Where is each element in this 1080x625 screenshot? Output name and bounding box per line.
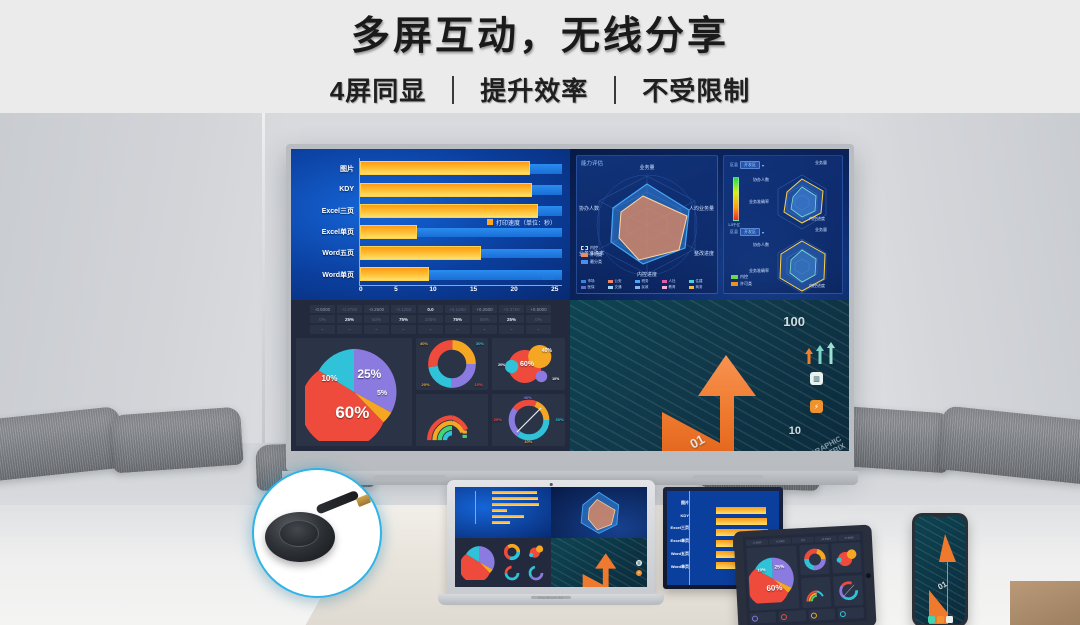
topbar-cell: 50% [364, 315, 389, 323]
mini-radar-axis-label: 协办人数 [753, 242, 769, 248]
gauge-label: 30% [556, 417, 564, 422]
legend-item: 交通 [608, 285, 632, 290]
topbar-cell: 0.0 [418, 305, 443, 313]
laptop-screen: ▥ ⚡ [455, 487, 647, 587]
laptop-arrow-svg [551, 538, 647, 588]
topbar-cell: +0.3750 [499, 305, 524, 313]
radar-legend-grid: 市场 公安 税务 人社 住建 医保 交通 民政 教育 商务 [581, 279, 713, 290]
tablet-screen: -0.5000 -0.2500 0.0 +0.2500 +0.5000 [743, 531, 868, 625]
donut-callout-label: 40% [420, 341, 428, 346]
mini-bubble-chart: 40% 60% 20% 10% [492, 338, 565, 390]
legend-item: 教育 [662, 285, 686, 290]
radar-axis-label: 协办人数 [579, 205, 599, 212]
page-title: 多屏互动，无线分享 [351, 5, 729, 61]
gauge-label: 10% [524, 439, 532, 444]
radar-key-label: 最分类 [590, 259, 602, 265]
wall-left [0, 113, 300, 443]
laptop-bar [492, 521, 510, 524]
laptop-lid: ▥ ⚡ [447, 480, 655, 596]
bar-chart-legend: 打印速度（单位：秒） [487, 218, 556, 227]
chair-right-2 [937, 405, 1080, 484]
topbar-cell: 100% [418, 315, 443, 323]
legend-swatch-icon [608, 286, 613, 289]
sparkline-icon: ⌁ [472, 325, 497, 334]
laptop-mini-charts [503, 543, 521, 582]
filter-value[interactable]: 开发区 [740, 228, 760, 236]
ring-icon [810, 612, 816, 618]
wall-seam [262, 113, 265, 443]
bar-chart-plot: 图片 KDY [299, 158, 562, 294]
mini-charts-grid: 40% 30% 20% 10% [416, 338, 565, 446]
laptop-gauge-svg [527, 564, 545, 582]
bar-value [360, 183, 532, 197]
filter-label: 区县 [730, 229, 738, 235]
legend-item: 医保 [581, 285, 605, 290]
pie-slice-label: 5% [377, 390, 387, 397]
main-pie-chart: 10% 25% 5% 60% [296, 338, 412, 446]
bubble-label: 40% [542, 348, 552, 354]
quadrant-bar-chart: 图片 KDY [291, 149, 570, 300]
radar-key-label: 内控 [590, 245, 598, 251]
tablet-pie-label: 25% [774, 564, 784, 571]
pie-chart-svg [305, 343, 403, 441]
pie-topbar: -0.5000 -0.3750 -0.2500 -0.1250 0.0 +0.1… [296, 305, 565, 334]
legend-swatch-icon [731, 275, 738, 279]
mini-radar-axis-label: 业务量 [815, 227, 827, 233]
phone-arrow-svg [915, 516, 965, 624]
donut-callout-label: 10% [475, 382, 483, 387]
legend-swatch-icon [635, 280, 640, 283]
topbar-percents-row: 0% 25% 50% 75% 100% 75% 50% 25% 0% [310, 315, 551, 323]
bar-track [359, 158, 562, 179]
legend-label: 打印速度（单位：秒） [496, 218, 556, 227]
bar-label: KDY [299, 186, 359, 193]
legend-swatch-icon [608, 280, 613, 283]
radar-chart-svg [581, 166, 713, 284]
legend-swatch-icon [689, 280, 694, 283]
mini-radar-axis-label: 业务准确率 [749, 268, 769, 274]
bar-label: Excel单页 [299, 227, 359, 237]
x-tick: 20 [511, 286, 518, 297]
feature-item-1: 4屏同显 [330, 71, 426, 108]
feature-divider-2 [614, 76, 616, 104]
legend-swatch-icon [689, 286, 694, 289]
chair-left-1 [0, 406, 125, 482]
bubble-label: 60% [520, 361, 534, 368]
topbar-cell: 0% [310, 315, 335, 323]
topbar-cell: +0.5000 [526, 305, 551, 313]
radar-key-item: 内控 [581, 245, 602, 251]
mini-radar-axis-label: 业务准确率 [749, 199, 769, 205]
sparkline-icon: ⌁ [364, 325, 389, 334]
legend-item: 税务 [635, 279, 659, 284]
pie-slice-label: 25% [357, 367, 381, 381]
legend-swatch-icon [635, 286, 640, 289]
legend-item: 公安 [608, 279, 632, 284]
donut-chart-svg [426, 338, 478, 390]
bubble-label: 10% [552, 377, 559, 381]
pie-slice-label: 60% [335, 403, 369, 423]
laptop-q3-pies [455, 538, 551, 588]
laptop-bar-list [475, 491, 547, 524]
up-arrow-icon [816, 345, 824, 364]
webcam-icon [550, 483, 553, 486]
laptop-donut-svg [503, 543, 521, 561]
chevron-down-icon: ▾ [762, 163, 764, 168]
bar-track [359, 179, 562, 200]
phone-notch [930, 513, 950, 517]
laptop-radar-svg [572, 487, 626, 537]
sparkline-icon: ⌁ [310, 325, 335, 334]
sparkline-icon: ⌁ [499, 325, 524, 334]
legend-item: 住建 [689, 279, 713, 284]
radar-axis-label: 业务量 [639, 164, 654, 171]
radar-key-swatch [581, 253, 588, 257]
tablet-card [837, 607, 864, 619]
topbar-cell: 50% [472, 315, 497, 323]
legend-swatch-icon [487, 219, 493, 225]
chevron-down-icon: ▾ [762, 230, 764, 235]
radar-axis-label: 内控进度 [637, 271, 657, 278]
side-legend-item: 许可类 [731, 281, 752, 287]
radar-key-swatch [581, 246, 588, 250]
laptop-pie-svg [461, 544, 497, 580]
mini-radar-axis-label: 内控进度 [809, 283, 825, 289]
app-icon-2[interactable] [937, 616, 944, 623]
tablet-donut-svg [802, 547, 827, 572]
bar-track [359, 264, 562, 285]
bar-label: Word单页 [299, 270, 359, 280]
laptop-brand-label: MacBook Air [538, 595, 564, 600]
product-promo-page: 多屏互动，无线分享 4屏同显 提升效率 不受限制 [0, 0, 1080, 625]
tablet-arc [801, 577, 831, 608]
radar-key: 内控 许可类 最分类 [581, 245, 602, 265]
dongle-cable [315, 490, 359, 515]
topbar-cell: -0.1250 [391, 305, 416, 313]
tablet-arc-svg [804, 581, 829, 604]
laptop-base: MacBook Air [438, 594, 664, 605]
laptop-q2-radar [551, 487, 647, 538]
topbar-icons-row: ⌁ ⌁ ⌁ ⌁ ⌁ ⌁ ⌁ ⌁ ⌁ [310, 325, 551, 334]
x-tick: 15 [470, 286, 477, 297]
tablet-topbar-cell: +0.2500 [815, 535, 837, 542]
speaker-grille-left [374, 475, 446, 481]
ring-icon [781, 613, 787, 619]
feature-item-3: 不受限制 [642, 71, 750, 108]
tablet-donut [799, 544, 829, 575]
topbar-cell: 75% [391, 315, 416, 323]
side-legend: 内控 许可类 [731, 274, 752, 287]
chart-icon: ▥ [810, 372, 823, 385]
bar-row: KDY [299, 179, 562, 200]
topbar-cell: -0.5000 [310, 305, 335, 313]
monitor2-bar-label: Excel单页 [669, 538, 689, 544]
wall-right [840, 113, 1080, 443]
radar-key-label: 许可类 [590, 252, 602, 258]
legend-item: 人社 [662, 279, 686, 284]
tablet-topbar-cell: +0.5000 [838, 534, 860, 541]
tablet-pie-label: 10% [757, 567, 765, 572]
pie-slice-label: 10% [321, 374, 337, 383]
monitor2-labels: 图片 KDY Excel三页 Excel单页 Word五页 Word单页 [669, 500, 689, 570]
monitor2-bar-label: Word单页 [669, 564, 689, 570]
side-legend-item: 内控 [731, 274, 752, 280]
tablet-pie-label: 60% [766, 583, 782, 593]
mini-radar-top [771, 171, 833, 231]
monitor2-bar [716, 507, 766, 514]
feature-divider-1 [452, 76, 454, 104]
radar-key-item: 最分类 [581, 259, 602, 265]
bar-track [359, 243, 562, 264]
tablet-card [808, 609, 835, 621]
floor-wood-strip [1010, 581, 1080, 625]
radar-key-swatch [581, 260, 588, 264]
interactive-flat-panel[interactable]: 图片 KDY [286, 144, 854, 471]
tablet-card [750, 612, 777, 624]
up-arrow-icon [805, 348, 813, 364]
sparkline-icon: ⌁ [337, 325, 362, 334]
x-tick: 5 [394, 286, 398, 297]
laptop-bar [492, 503, 539, 506]
radar-axis-label: 人均业务量 [689, 205, 714, 212]
side-filter-bottom[interactable]: 区县 开发区 ▾ [730, 228, 764, 236]
topbar-cell: 0% [526, 315, 551, 323]
filter-label: 区县 [730, 162, 738, 168]
mini-radar-axis-label: 业务量 [815, 160, 827, 166]
laptop-bar [492, 497, 538, 500]
laptop-q1-bars [455, 487, 551, 538]
legend-item: 商务 [689, 285, 713, 290]
topbar-cell: 75% [445, 315, 470, 323]
legend-swatch-icon [581, 280, 586, 283]
bar-row: Word单页 [299, 264, 562, 285]
tablet-body: 10% 25% 60% [746, 542, 863, 611]
bar-chart-x-axis: 0 5 10 15 20 25 [359, 285, 562, 297]
bar-value [360, 225, 417, 239]
dongle-touch-surface[interactable] [279, 520, 319, 547]
smartphone-device[interactable]: 01 [912, 513, 968, 625]
monitor2-bar [716, 518, 767, 525]
gauge-label: 20% [494, 417, 502, 422]
mini-radar-axis-label: 内控进度 [809, 216, 825, 222]
arc-chart-svg [424, 396, 480, 444]
filter-value[interactable]: 开发区 [740, 161, 760, 169]
laptop-bar [492, 491, 537, 494]
side-cell-bottom: 区县 开发区 ▾ [727, 226, 839, 290]
speaker-grille-right [692, 475, 764, 481]
colorbar-legend [733, 177, 739, 221]
bar-row: 图片 [299, 158, 562, 179]
up-arrow-icon [827, 342, 835, 364]
tablet-gauge [833, 575, 863, 606]
quadrant-radar-dashboard: 能力评估 [570, 149, 849, 300]
sparkline-icon: ⌁ [391, 325, 416, 334]
product-callout-circle [252, 468, 382, 598]
laptop-bar [492, 509, 507, 512]
legend-item: 民政 [635, 285, 659, 290]
bar-value [360, 161, 530, 175]
radar-main-panel: 能力评估 [576, 155, 718, 294]
topbar-cell: +0.1250 [445, 305, 470, 313]
legend-swatch-icon [731, 282, 738, 286]
topbar-values-row: -0.5000 -0.3750 -0.2500 -0.1250 0.0 +0.1… [310, 305, 551, 313]
laptop-bar [492, 515, 524, 518]
tablet-home-button[interactable] [866, 573, 871, 578]
tablet-card [779, 610, 806, 622]
gauge-chart-svg [503, 395, 555, 445]
topbar-cell: -0.3750 [337, 305, 362, 313]
feature-item-2: 提升效率 [480, 71, 588, 108]
bar-value [360, 204, 538, 218]
scale-label-100: 100 [783, 314, 805, 329]
laptop-q4-arrow: ▥ ⚡ [551, 538, 647, 588]
topbar-cell: +0.2500 [472, 305, 497, 313]
bar-label: Word五页 [299, 248, 359, 258]
laptop-lightning-icon: ⚡ [636, 570, 642, 576]
mini-radar-axis-label: 协办人数 [753, 177, 769, 183]
side-filter-top[interactable]: 区县 开发区 ▾ [730, 161, 764, 169]
laptop-chart-icon: ▥ [636, 560, 642, 566]
mini-gauge-chart: 40% 30% 20% 10% [492, 394, 565, 446]
donut-callout-label: 20% [422, 382, 430, 387]
tablet-bubble-svg [833, 546, 860, 569]
monitor2-bar [716, 540, 733, 547]
ring-icon [839, 610, 845, 616]
topbar-cell: -0.2500 [364, 305, 389, 313]
bar-value [360, 246, 481, 260]
chair-left-2 [110, 407, 244, 474]
mini-arrow-group [805, 342, 835, 364]
bubble-label: 20% [498, 363, 505, 367]
legend-swatch-icon [662, 280, 667, 283]
chart-watermark: bee [542, 276, 554, 282]
tablet-topbar-cell: 0.0 [792, 536, 814, 543]
topbar-cell: 25% [499, 315, 524, 323]
scale-label-10: 10 [789, 425, 801, 437]
lightning-icon: ⚡ [810, 400, 823, 413]
radar-key-item: 许可类 [581, 252, 602, 258]
legend-item: 市场 [581, 279, 605, 284]
laptop-device[interactable]: ▥ ⚡ MacBook Air [447, 480, 655, 610]
gauge-label: 40% [524, 395, 532, 400]
phone-dock [915, 616, 965, 623]
legend-swatch-icon [581, 286, 586, 289]
sparkline-icon: ⌁ [526, 325, 551, 334]
pie-body: 10% 25% 5% 60% [296, 338, 565, 446]
monitor2-bar-label: KDY [669, 513, 689, 518]
app-icon-1[interactable] [928, 616, 935, 623]
side-cell-top: 区县 开发区 ▾ 1-5千亿 [727, 159, 839, 223]
tablet-topbar-cell: -0.2500 [769, 538, 791, 545]
radar-side-panel: 区县 开发区 ▾ 1-5千亿 [723, 155, 843, 294]
monitor2-bar-label: Excel三页 [669, 525, 689, 531]
meeting-room-scene: 图片 KDY [0, 113, 1080, 625]
panel-screen: 图片 KDY [291, 149, 849, 451]
sparkline-icon: ⌁ [418, 325, 443, 334]
tablet-topbar-cell: -0.5000 [746, 539, 768, 546]
x-tick: 25 [551, 286, 558, 297]
radar-axis-label: 整改进度 [694, 250, 714, 257]
tablet-device[interactable]: -0.5000 -0.2500 0.0 +0.2500 +0.5000 [733, 524, 876, 625]
mini-donut-chart: 40% 30% 20% 10% [416, 338, 489, 390]
tablet-pie-panel: 10% 25% 60% [746, 545, 799, 611]
monitor2-bar-label: 图片 [669, 500, 689, 506]
donut-callout-label: 30% [476, 341, 484, 346]
topbar-cell: 25% [337, 315, 362, 323]
growth-arrow-svg [570, 300, 849, 451]
laptop-mini-charts-2 [527, 543, 545, 582]
sparkline-icon: ⌁ [445, 325, 470, 334]
legend-swatch-icon [662, 286, 667, 289]
laptop-bubble-svg [527, 543, 545, 561]
monitor2-bar-label: Word五页 [669, 551, 689, 557]
feature-list: 4屏同显 提升效率 不受限制 [330, 71, 751, 108]
tablet-pie-svg [748, 553, 798, 603]
quadrant-arrow-infographic: 100 10 01 ▥ ⚡ GRAPHICMATRIX [570, 300, 849, 451]
x-tick: 10 [429, 286, 436, 297]
tablet-bubble [831, 542, 861, 573]
monitor2-bar [716, 562, 737, 569]
quadrant-pie-dashboard: -0.5000 -0.3750 -0.2500 -0.1250 0.0 +0.1… [291, 300, 570, 451]
wireless-dongle-illustration [265, 500, 369, 566]
bar-label: Excel三页 [299, 206, 359, 216]
bar-row: Word五页 [299, 243, 562, 264]
laptop-arc-svg [503, 564, 521, 582]
tablet-mini-grid [799, 542, 863, 608]
x-tick: 0 [359, 286, 363, 297]
phone-screen: 01 [915, 516, 965, 624]
bar-value [360, 267, 429, 281]
app-icon-3[interactable] [946, 616, 953, 623]
header-banner: 多屏互动，无线分享 4屏同显 提升效率 不受限制 [0, 0, 1080, 113]
tablet-gauge-svg [836, 578, 861, 603]
bar-label: 图片 [299, 164, 359, 174]
ring-icon [752, 615, 758, 621]
mini-arc-chart [416, 394, 489, 446]
